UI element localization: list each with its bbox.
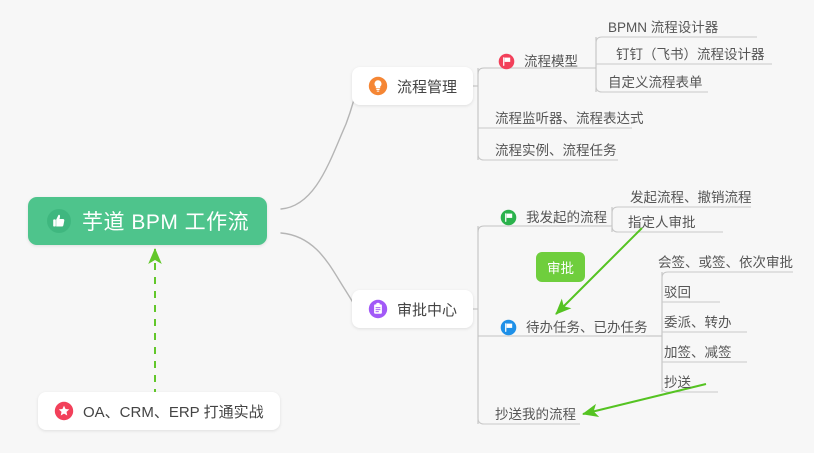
thumbs-up-icon xyxy=(46,208,72,234)
node-label-countersign: 会签、或签、依次审批 xyxy=(658,254,793,271)
node-todo-done-tasks[interactable]: 待办任务、已办任务 xyxy=(492,310,654,336)
highlight-note-node[interactable]: OA、CRM、ERP 打通实战 xyxy=(38,392,280,430)
node-label-process-model: 流程模型 xyxy=(524,53,578,70)
node-assignee-approval[interactable]: 指定人审批 xyxy=(620,205,702,231)
approval-tag-label: 审批 xyxy=(547,257,574,277)
node-listener-expression[interactable]: 流程监听器、流程表达式 xyxy=(487,101,650,127)
node-my-initiated[interactable]: 我发起的流程 xyxy=(492,200,613,226)
node-label-delegate-transfer: 委派、转办 xyxy=(664,314,732,331)
mindmap-canvas: 芋道 BPM 工作流 OA、CRM、ERP 打通实战 流程管理 xyxy=(0,0,814,453)
lightbulb-icon xyxy=(368,76,388,96)
approval-tag-node[interactable]: 审批 xyxy=(536,252,585,282)
node-instance-task[interactable]: 流程实例、流程任务 xyxy=(487,133,623,159)
node-custom-process-form[interactable]: 自定义流程表单 xyxy=(600,65,709,91)
node-add-remove-sign[interactable]: 加签、减签 xyxy=(656,335,738,361)
node-label-cc: 抄送 xyxy=(664,374,691,391)
wire-ac-to-initiated xyxy=(478,226,588,232)
wire-root-to-approval-center xyxy=(281,233,357,309)
node-reject[interactable]: 驳回 xyxy=(656,275,697,301)
branch-node-approval-center[interactable]: 审批中心 xyxy=(352,290,473,328)
star-icon xyxy=(54,401,74,421)
node-label-add-remove-sign: 加签、减签 xyxy=(664,344,732,361)
node-label-reject: 驳回 xyxy=(664,284,691,301)
node-dingtalk-feishu-designer[interactable]: 钉钉（飞书）流程设计器 xyxy=(608,37,771,63)
node-label-bpmn-designer: BPMN 流程设计器 xyxy=(608,19,718,36)
clipboard-icon xyxy=(368,299,388,319)
node-process-model[interactable]: 流程模型 xyxy=(490,44,584,70)
node-label-my-initiated: 我发起的流程 xyxy=(526,209,607,226)
node-bpmn-designer[interactable]: BPMN 流程设计器 xyxy=(600,10,724,36)
root-label: 芋道 BPM 工作流 xyxy=(82,206,249,236)
node-cc-to-me[interactable]: 抄送我的流程 xyxy=(487,397,582,423)
wire-root-to-process-management xyxy=(281,86,357,209)
node-start-cancel[interactable]: 发起流程、撤销流程 xyxy=(622,180,758,206)
node-cc[interactable]: 抄送 xyxy=(656,365,697,391)
node-label-custom-process-form: 自定义流程表单 xyxy=(608,74,703,91)
flag-green-icon xyxy=(500,209,517,226)
node-delegate-transfer[interactable]: 委派、转办 xyxy=(656,305,738,331)
node-label-start-cancel: 发起流程、撤销流程 xyxy=(630,189,752,206)
node-label-assignee-approval: 指定人审批 xyxy=(628,214,696,231)
node-label-instance-task: 流程实例、流程任务 xyxy=(495,142,617,159)
node-label-listener-expression: 流程监听器、流程表达式 xyxy=(495,110,644,127)
branch-label-approval-center: 审批中心 xyxy=(397,299,457,320)
node-countersign[interactable]: 会签、或签、依次审批 xyxy=(650,245,799,271)
flag-blue-icon xyxy=(500,319,517,336)
branch-label-process-management: 流程管理 xyxy=(397,76,457,97)
highlight-note-label: OA、CRM、ERP 打通实战 xyxy=(83,401,264,422)
node-label-cc-to-me: 抄送我的流程 xyxy=(495,406,576,423)
branch-node-process-management[interactable]: 流程管理 xyxy=(352,67,473,105)
root-node[interactable]: 芋道 BPM 工作流 xyxy=(28,197,267,245)
flag-red-icon xyxy=(498,53,515,70)
node-label-todo-done-tasks: 待办任务、已办任务 xyxy=(526,319,648,336)
node-label-dingtalk-feishu-designer: 钉钉（飞书）流程设计器 xyxy=(616,46,765,63)
